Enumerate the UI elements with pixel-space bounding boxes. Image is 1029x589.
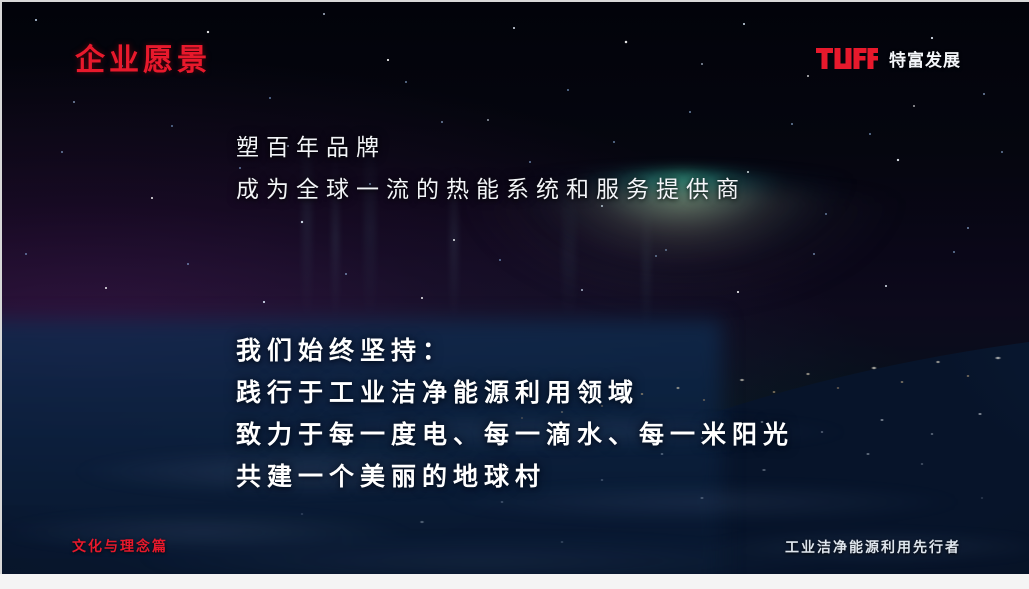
footer-slogan: 工业洁净能源利用先行者 <box>785 537 961 557</box>
vision-upper-line-2: 成为全球一流的热能系统和服务提供商 <box>236 168 746 210</box>
slide-frame-top-edge <box>0 0 1029 2</box>
vision-upper-line-1: 塑百年品牌 <box>236 126 746 168</box>
slide-content: 企业愿景 特富发展 塑百年 <box>0 0 1029 589</box>
brand-name-cn: 特富发展 <box>889 46 961 71</box>
vision-statement-upper: 塑百年品牌 成为全球一流的热能系统和服务提供商 <box>236 126 746 210</box>
footer-section-label: 文化与理念篇 <box>72 536 168 556</box>
vision-lower-line-3: 致力于每一度电、每一滴水、每一米阳光 <box>236 414 794 456</box>
page-title: 企业愿景 <box>75 44 211 77</box>
vision-lower-line-1: 我们始终坚持： <box>236 330 794 372</box>
tuff-wordmark-icon <box>816 48 878 69</box>
brand-logo: 特富发展 <box>816 46 961 71</box>
vision-lower-line-4: 共建一个美丽的地球村 <box>236 456 794 498</box>
page-background-strip <box>0 574 1029 589</box>
slide-frame-left-edge <box>0 0 2 576</box>
vision-statement-lower: 我们始终坚持： 践行于工业洁净能源利用领域 致力于每一度电、每一滴水、每一米阳光… <box>236 330 794 498</box>
presentation-slide: 企业愿景 特富发展 塑百年 <box>0 0 1029 589</box>
vision-lower-line-2: 践行于工业洁净能源利用领域 <box>236 372 794 414</box>
